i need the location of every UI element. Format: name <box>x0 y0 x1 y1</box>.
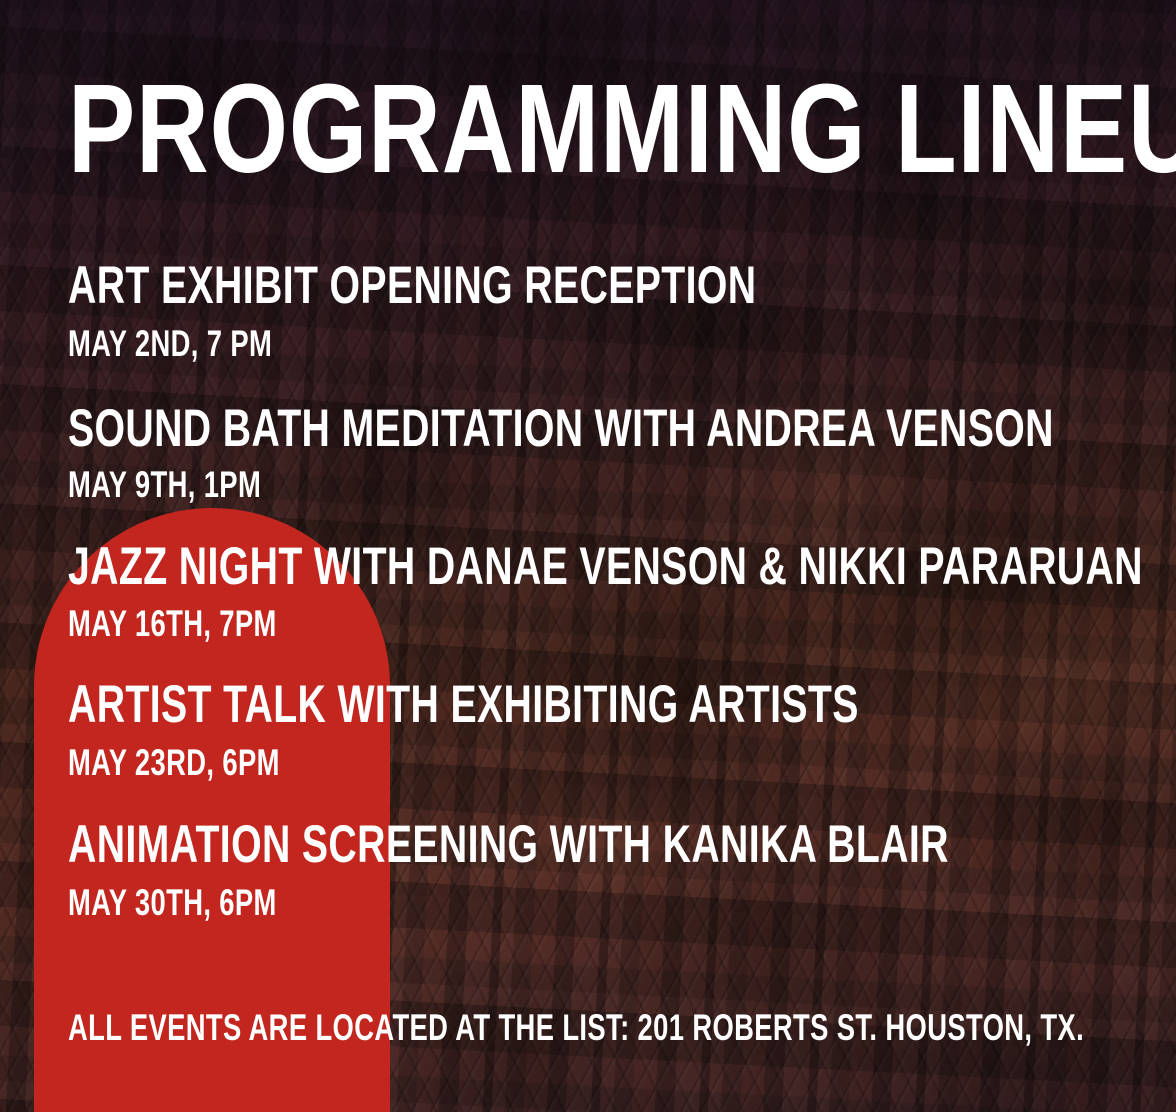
programming-lineup-poster: PROGRAMMING LINEUP ART EXHIBIT OPENING R… <box>0 0 1176 1112</box>
venue-footer-note: ALL EVENTS ARE LOCATED AT THE LIST: 201 … <box>68 1009 1084 1046</box>
event-date-5: MAY 30TH, 6PM <box>68 884 277 921</box>
event-title-3: JAZZ NIGHT WITH DANAE VENSON & NIKKI PAR… <box>68 540 1143 593</box>
event-date-4: MAY 23RD, 6PM <box>68 744 280 781</box>
event-title-1: ART EXHIBIT OPENING RECEPTION <box>68 259 756 312</box>
event-date-1: MAY 2ND, 7 PM <box>68 325 272 362</box>
event-title-5: ANIMATION SCREENING WITH KANIKA BLAIR <box>68 818 949 871</box>
event-title-2: SOUND BATH MEDITATION WITH ANDREA VENSON <box>68 402 1054 455</box>
event-date-3: MAY 16TH, 7PM <box>68 605 277 642</box>
page-title: PROGRAMMING LINEUP <box>68 66 1176 192</box>
event-date-2: MAY 9TH, 1PM <box>68 466 261 503</box>
event-title-4: ARTIST TALK WITH EXHIBITING ARTISTS <box>68 678 859 731</box>
